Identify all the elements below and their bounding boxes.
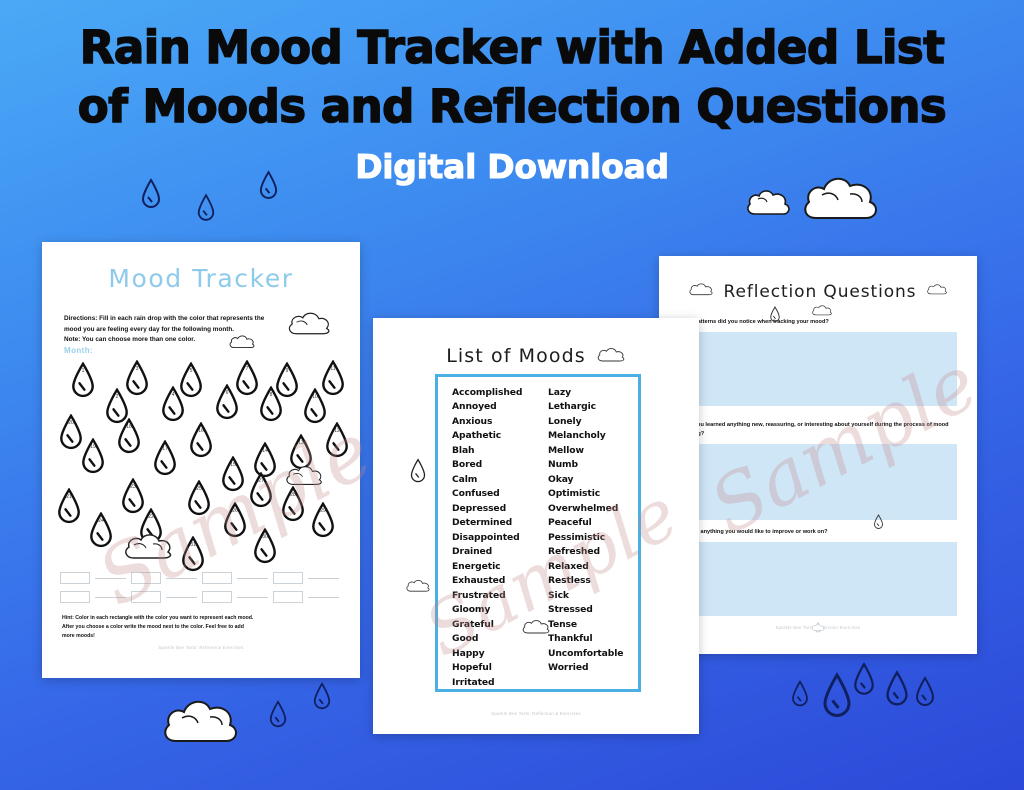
mood-list-item: Stressed [548,603,634,617]
mood-list-item: Anxious [452,415,538,429]
sheet-footer-row: Sparkle Bee Tarts: Reflection Exercises [659,625,977,630]
mood-list-item: Pessimistic [548,531,634,545]
title-line-2: of Moods and Reflection Questions [0,77,1024,136]
cloud-icon [160,695,242,747]
raindrop-day-number: 9 [274,368,300,374]
sheet-reflection-questions[interactable]: Reflection Questions What patterns did y… [659,256,977,654]
raindrop-day-cell[interactable]: 21 [56,488,82,525]
cloud-icon [596,346,626,369]
raindrop-day-cell[interactable]: 26 [222,502,248,539]
swatch-item[interactable] [273,591,344,603]
cloud-icon [745,186,793,218]
mood-list-item: Drained [452,545,538,559]
reflection-heading: Reflection Questions [724,282,917,302]
directions-line-2: mood you are feeling every day for the f… [64,325,304,336]
hint-line-3: more moods! [62,632,312,641]
mood-list-item: Restless [548,574,634,588]
mood-list-item: Disappointed [452,531,538,545]
sheet-footer: Sparkle Bee Tarts: Reference Exercises [42,645,360,650]
mood-list-item: Exhausted [452,574,538,588]
reflection-question-1: What patterns did you notice when tracki… [679,318,957,406]
mood-list-item: Bored [452,458,538,472]
color-swatch-box[interactable] [202,572,232,584]
color-swatch-box[interactable] [273,591,303,603]
mood-list-item: Numb [548,458,634,472]
raindrop-icon [409,458,427,489]
raindrop-day-cell[interactable]: 9 [274,362,300,399]
title-line-1: Rain Mood Tracker with Added List [0,18,1024,77]
cloud-icon [405,578,431,599]
raindrop-day-cell[interactable]: 5 [178,362,204,399]
poster-subtitle: Digital Download [0,147,1024,186]
raindrop-day-number: 29 [310,508,336,514]
swatch-item[interactable] [60,591,131,603]
cloud-icon [688,282,714,302]
raindrop-day-number: 18 [116,424,142,430]
raindrop-day-cell[interactable]: 7 [234,360,260,397]
hint-line-2: After you choose a color write the mood … [62,623,312,632]
color-swatch-box[interactable] [273,572,303,584]
mood-list-item: Overwhelmed [548,502,634,516]
raindrop-day-cell[interactable]: 20 [58,414,84,451]
moods-column-right: LazyLethargicLonelyMelancholyMellowNumbO… [548,386,634,690]
swatch-item[interactable] [202,591,273,603]
mood-list-item: Gloomy [452,603,538,617]
mood-list-item: Frustrated [452,589,538,603]
raindrop-icon [790,680,810,708]
color-key-swatches[interactable] [60,572,346,610]
answer-area[interactable] [679,444,957,520]
raindrop-day-number: 21 [56,494,82,500]
raindrop-day-number: 7 [234,366,260,372]
mood-tracker-heading: Mood Tracker [42,264,360,293]
raindrop-day-number: 28 [280,492,306,498]
mood-list-item: Uncomfortable [548,647,634,661]
mood-list-item: Relaxed [548,560,634,574]
raindrop-day-cell[interactable]: 1 [70,362,96,399]
mood-list-item: Annoyed [452,400,538,414]
raindrop-day-number: 31 [180,542,206,548]
swatch-item[interactable] [131,572,202,584]
mood-list-item: Peaceful [548,516,634,530]
mood-list-item: Accomplished [452,386,538,400]
moods-list-box: AccomplishedAnnoyedAnxiousApatheticBlahB… [435,374,641,692]
mood-list-item: Lazy [548,386,634,400]
raindrop-day-cell[interactable]: 13 [288,434,314,471]
raindrop-day-cell[interactable]: 18 [116,418,142,455]
raindrop-day-cell[interactable]: 27 [248,472,274,509]
moods-column-left: AccomplishedAnnoyedAnxiousApatheticBlahB… [452,386,538,690]
raindrop-day-number: 5 [178,368,204,374]
mood-list-item: Irritated [452,676,538,690]
raindrop-day-number: 1 [70,368,96,374]
raindrop-day-cell[interactable]: 15 [220,456,246,493]
raindrop-day-number: 26 [222,508,248,514]
directions-line-3: Note: You can choose more than one color… [64,335,304,346]
color-swatch-box[interactable] [60,572,90,584]
mood-name-line[interactable] [308,597,339,598]
raindrop-icon [852,662,876,697]
mood-list-item: Confused [452,487,538,501]
mood-name-line[interactable] [166,578,197,579]
raindrop-icon [820,672,854,720]
mood-list-item: Sick [548,589,634,603]
mood-list-item: Refreshed [548,545,634,559]
raindrop-day-number: 24 [88,518,114,524]
poster-canvas: Rain Mood Tracker with Added List of Moo… [0,0,1024,790]
swatch-item[interactable] [202,572,273,584]
raindrop-day-number: 14 [252,448,278,454]
raindrop-day-number: 15 [220,462,246,468]
raindrop-day-cell[interactable]: 31 [180,536,206,573]
mood-name-line[interactable] [237,597,268,598]
mood-tracker-hint: Hint: Color in each rectangle with the c… [62,614,312,641]
raindrop-day-cell[interactable]: 25 [186,480,212,517]
mood-list-item: Mellow [548,444,634,458]
mood-list-item: Lethargic [548,400,634,414]
list-of-moods-heading: List of Moods [446,345,586,367]
raindrop-day-cell[interactable]: 28 [280,486,306,523]
answer-area[interactable] [679,542,957,616]
raindrop-day-number: 12 [324,428,350,434]
swatch-item[interactable] [273,572,344,584]
raindrop-grid[interactable]: 1234567891011121314151617181920212223242… [52,360,350,562]
swatch-row [60,572,346,584]
month-label: Month: [64,346,93,355]
raindrop-icon [312,682,332,711]
sheet-list-of-moods[interactable]: List of Moods AccomplishedAnnoyedAnxious… [373,318,699,734]
directions-line-1: Directions: Fill in each rain drop with … [64,314,304,325]
mood-list-item: Determined [452,516,538,530]
color-swatch-box[interactable] [131,572,161,584]
raindrop-day-number: 30 [252,534,278,540]
raindrop-day-cell[interactable]: 30 [252,528,278,565]
question-text: Is there anything you would like to impr… [679,528,957,537]
raindrop-day-number: 16 [188,428,214,434]
raindrop-day-cell[interactable]: 24 [88,512,114,549]
mood-list-item: Depressed [452,502,538,516]
raindrop-day-number: 20 [58,420,84,426]
raindrop-icon [884,670,910,708]
sheet-footer: Sparkle Bee Tarts: Reflection Exercises [776,625,861,630]
mood-list-item: Blah [452,444,538,458]
raindrop-day-cell[interactable]: 23 [120,478,146,515]
mood-list-item: Okay [548,473,634,487]
mood-list-item: Melancholy [548,429,634,443]
mood-name-line[interactable] [237,578,268,579]
mood-list-item: Happy [452,647,538,661]
swatch-item[interactable] [60,572,131,584]
mood-list-item: Optimistic [548,487,634,501]
poster-title-block: Rain Mood Tracker with Added List of Moo… [0,18,1024,186]
sheet-mood-tracker[interactable]: Mood Tracker Directions: Fill in each ra… [42,242,360,678]
mood-name-line[interactable] [166,597,197,598]
cloud-icon [926,283,948,301]
mood-list-item: Hopeful [452,661,538,675]
hint-line-1: Hint: Color in each rectangle with the c… [62,614,312,623]
raindrop-day-number: 25 [186,486,212,492]
raindrop-day-number: 11 [320,366,346,372]
mood-list-item: Good [452,632,538,646]
raindrop-day-number: 27 [248,478,274,484]
raindrop-day-cell[interactable]: 17 [152,440,178,477]
raindrop-day-cell[interactable]: 12 [324,422,350,459]
raindrop-icon [268,700,288,729]
reflection-question-2: Have you learned anything new, reassurin… [679,421,957,520]
answer-area[interactable] [679,332,957,406]
mood-list-item: Grateful [452,618,538,632]
raindrop-day-number: 3 [124,366,150,372]
mood-name-line[interactable] [95,578,126,579]
raindrop-day-cell[interactable]: 16 [188,422,214,459]
mood-list-item: Lonely [548,415,634,429]
reflection-question-3: Is there anything you would like to impr… [679,528,957,616]
raindrop-icon [914,676,936,708]
raindrop-day-number: 13 [288,440,314,446]
raindrop-day-cell[interactable]: 11 [320,360,346,397]
mood-list-item: Calm [452,473,538,487]
raindrop-day-number: 23 [120,484,146,490]
mood-name-line[interactable] [95,597,126,598]
mood-list-item: Tense [548,618,634,632]
mood-name-line[interactable] [308,578,339,579]
mood-list-item: Energetic [452,560,538,574]
mood-list-item: Thankful [548,632,634,646]
question-text: Have you learned anything new, reassurin… [679,421,957,439]
raindrop-icon [196,193,216,223]
mood-list-item: Worried [548,661,634,675]
raindrop-day-cell[interactable]: 3 [124,360,150,397]
raindrop-day-cell[interactable]: 29 [310,502,336,539]
mood-list-item: Apathetic [452,429,538,443]
sheet-footer: Sparkle Bee Tarts: Reflection & Exercise… [373,711,699,716]
color-swatch-box[interactable] [131,591,161,603]
mood-tracker-directions: Directions: Fill in each rain drop with … [64,314,304,346]
color-swatch-box[interactable] [202,591,232,603]
swatch-row [60,591,346,603]
color-swatch-box[interactable] [60,591,90,603]
question-text: What patterns did you notice when tracki… [679,318,957,327]
swatch-item[interactable] [131,591,202,603]
raindrop-day-number: 17 [152,446,178,452]
